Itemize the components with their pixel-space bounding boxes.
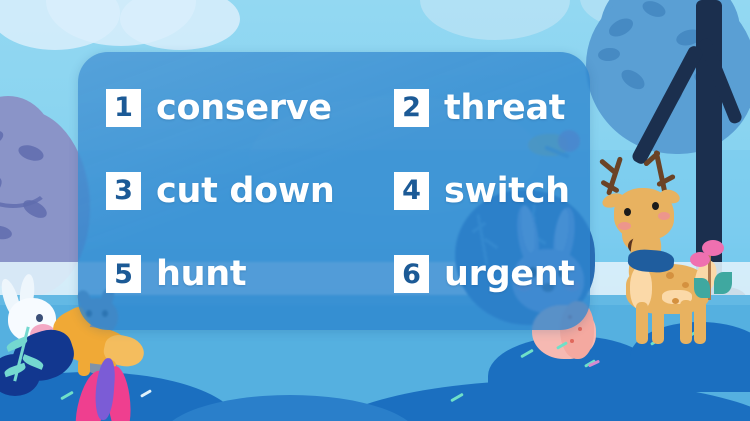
item-number-badge: 1	[106, 89, 141, 127]
vocabulary-item-3[interactable]: 3 cut down	[106, 149, 394, 232]
vocabulary-item-5[interactable]: 5 hunt	[106, 233, 394, 316]
item-number-badge: 5	[106, 255, 141, 293]
item-word: hunt	[156, 254, 246, 294]
vocabulary-item-2[interactable]: 2 threat	[394, 66, 618, 149]
flower-illustration	[690, 232, 734, 302]
item-word: threat	[444, 88, 565, 128]
item-word: cut down	[156, 171, 335, 211]
vocabulary-item-4[interactable]: 4 switch	[394, 149, 618, 232]
item-number-badge: 4	[394, 172, 429, 210]
item-word: switch	[444, 171, 570, 211]
item-number-badge: 3	[106, 172, 141, 210]
vocabulary-grid: 1 conserve 2 threat 3 cut down 4 switch …	[78, 52, 590, 330]
item-word: conserve	[156, 88, 332, 128]
slide-canvas: 1 conserve 2 threat 3 cut down 4 switch …	[0, 0, 750, 421]
item-number-badge: 6	[394, 255, 429, 293]
vocabulary-item-6[interactable]: 6 urgent	[394, 233, 618, 316]
vocabulary-item-1[interactable]: 1 conserve	[106, 66, 394, 149]
vocabulary-card: 1 conserve 2 threat 3 cut down 4 switch …	[78, 52, 590, 330]
item-word: urgent	[444, 254, 575, 294]
item-number-badge: 2	[394, 89, 429, 127]
